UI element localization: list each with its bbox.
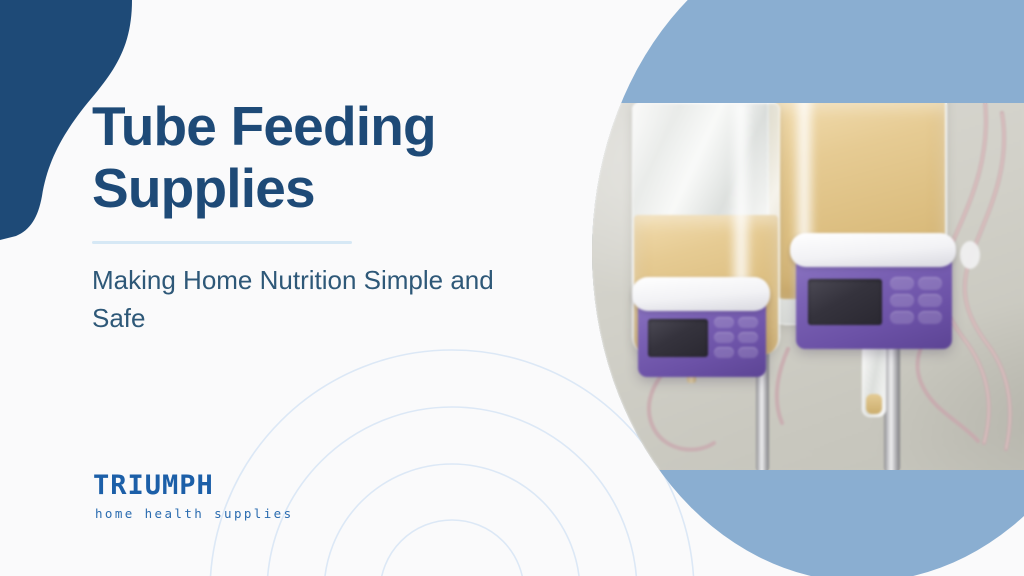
logo-tagline: home health supplies <box>95 506 333 521</box>
pump-keypad-right <box>890 277 942 324</box>
hero-media <box>592 0 1024 576</box>
feeding-pump-right <box>796 249 952 349</box>
title-divider <box>92 241 352 244</box>
title-line-1: Tube Feeding <box>92 95 436 157</box>
feeding-pump-left <box>638 293 766 377</box>
pump-screen-left <box>648 319 708 357</box>
text-column: Tube Feeding Supplies Making Home Nutrit… <box>92 96 562 338</box>
page-title: Tube Feeding Supplies <box>92 96 562 219</box>
pump-lid-left <box>632 277 770 311</box>
pump-lid-right <box>790 233 956 267</box>
subtitle: Making Home Nutrition Simple and Safe <box>92 262 522 337</box>
hero-photo <box>592 103 1024 470</box>
pump-keypad-left <box>714 317 758 358</box>
drip-chamber <box>862 343 886 417</box>
title-line-2: Supplies <box>92 157 315 219</box>
logo-wordmark: TRIUMPH <box>93 472 333 499</box>
brand-logo: TRIUMPH home health supplies <box>93 472 333 521</box>
pump-screen-right <box>808 279 882 325</box>
presentation-slide: Tube Feeding Supplies Making Home Nutrit… <box>0 0 1024 576</box>
photo-circle-clip <box>592 0 1024 576</box>
